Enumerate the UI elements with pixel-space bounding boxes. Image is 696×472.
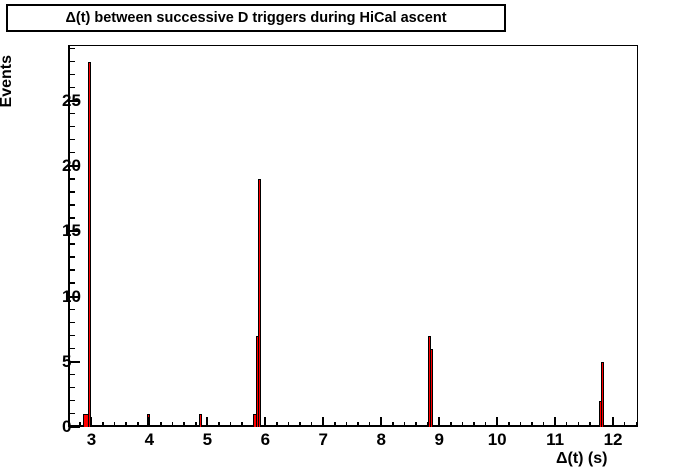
plot-area (70, 46, 638, 427)
x-axis-minor-tick (462, 422, 464, 427)
y-axis-minor-tick (70, 74, 75, 76)
histogram-bar (88, 62, 91, 427)
x-axis-tick-label: 9 (434, 430, 443, 450)
y-axis-minor-tick (70, 348, 75, 350)
y-axis-minor-tick (70, 48, 75, 50)
chart-title-box: Δ(t) between successive D triggers durin… (6, 4, 506, 32)
x-axis-minor-tick (601, 422, 603, 427)
y-axis-minor-tick (70, 152, 75, 154)
x-axis-tick-label: 3 (87, 430, 96, 450)
x-axis-minor-tick (578, 422, 580, 427)
x-axis-minor-tick (311, 422, 313, 427)
x-axis-tick-label: 4 (145, 430, 154, 450)
y-axis-minor-tick (70, 256, 75, 258)
x-axis-major-tick (380, 417, 382, 427)
x-axis-minor-tick (624, 422, 626, 427)
y-axis-minor-tick (70, 322, 75, 324)
y-axis-minor-tick (70, 204, 75, 206)
x-axis-minor-tick (172, 422, 174, 427)
x-axis-minor-tick (125, 422, 127, 427)
histogram-bar (199, 414, 202, 427)
x-axis-major-tick (554, 417, 556, 427)
y-axis-minor-tick (70, 309, 75, 311)
y-axis-minor-tick (70, 217, 75, 219)
x-axis-tick-label: 5 (203, 430, 212, 450)
y-axis-minor-tick (70, 400, 75, 402)
x-axis-minor-tick (241, 422, 243, 427)
x-axis-minor-tick (520, 422, 522, 427)
x-axis-minor-tick (508, 422, 510, 427)
x-axis-major-tick (206, 417, 208, 427)
y-axis-minor-tick (70, 387, 75, 389)
x-axis-tick-label: 6 (261, 430, 270, 450)
x-axis-major-tick (148, 417, 150, 427)
x-axis-tick-label: 10 (488, 430, 507, 450)
x-axis-minor-tick (450, 422, 452, 427)
x-axis-major-tick (496, 417, 498, 427)
x-axis-minor-tick (218, 422, 220, 427)
x-axis-major-tick (612, 417, 614, 427)
x-axis-minor-tick (543, 422, 545, 427)
x-axis-tick-label: 7 (319, 430, 328, 450)
x-axis-minor-tick (589, 422, 591, 427)
y-axis-title: Events (0, 55, 16, 107)
y-axis-minor-tick (70, 191, 75, 193)
y-axis-minor-tick (70, 87, 75, 89)
y-axis-major-tick (70, 361, 80, 363)
y-axis-minor-tick (70, 178, 75, 180)
x-axis-minor-tick (334, 422, 336, 427)
y-axis-minor-tick (70, 335, 75, 337)
x-axis-minor-tick (160, 422, 162, 427)
x-axis-minor-tick (392, 422, 394, 427)
x-axis-minor-tick (137, 422, 139, 427)
y-axis-major-tick (70, 426, 80, 428)
x-axis-minor-tick (473, 422, 475, 427)
x-axis-tick-label: 8 (377, 430, 386, 450)
x-axis-minor-tick (230, 422, 232, 427)
x-axis-major-tick (90, 417, 92, 427)
x-axis-minor-tick (346, 422, 348, 427)
histogram-bar (430, 349, 433, 427)
y-axis-minor-tick (70, 374, 75, 376)
y-axis-minor-tick (70, 413, 75, 415)
x-axis-minor-tick (102, 422, 104, 427)
x-axis-major-tick (322, 417, 324, 427)
x-axis-minor-tick (288, 422, 290, 427)
x-axis-minor-tick (299, 422, 301, 427)
y-axis-minor-tick (70, 282, 75, 284)
x-axis-minor-tick (195, 422, 197, 427)
x-axis-minor-tick (276, 422, 278, 427)
x-axis-minor-tick (253, 422, 255, 427)
x-axis-major-tick (264, 417, 266, 427)
histogram-bar (601, 362, 604, 427)
x-axis-major-tick (438, 417, 440, 427)
y-axis-minor-tick (70, 139, 75, 141)
y-axis-minor-tick (70, 269, 75, 271)
y-axis-minor-tick (70, 243, 75, 245)
x-axis-minor-tick (183, 422, 185, 427)
x-axis-minor-tick (415, 422, 417, 427)
x-axis-minor-tick (636, 422, 638, 427)
x-axis-minor-tick (404, 422, 406, 427)
x-axis-tick-label: 12 (604, 430, 623, 450)
x-axis-minor-tick (357, 422, 359, 427)
x-axis-title: Δ(t) (s) (556, 450, 607, 468)
y-axis-minor-tick (70, 113, 75, 115)
x-axis-minor-tick (369, 422, 371, 427)
x-axis-tick-label: 11 (546, 430, 564, 450)
histogram-bar (258, 179, 261, 427)
x-axis-minor-tick (114, 422, 116, 427)
x-axis-minor-tick (427, 422, 429, 427)
x-axis-minor-tick (566, 422, 568, 427)
y-axis-minor-tick (70, 126, 75, 128)
x-axis-minor-tick (485, 422, 487, 427)
chart-title: Δ(t) between successive D triggers durin… (65, 10, 446, 26)
y-axis-minor-tick (70, 61, 75, 63)
x-axis-minor-tick (531, 422, 533, 427)
